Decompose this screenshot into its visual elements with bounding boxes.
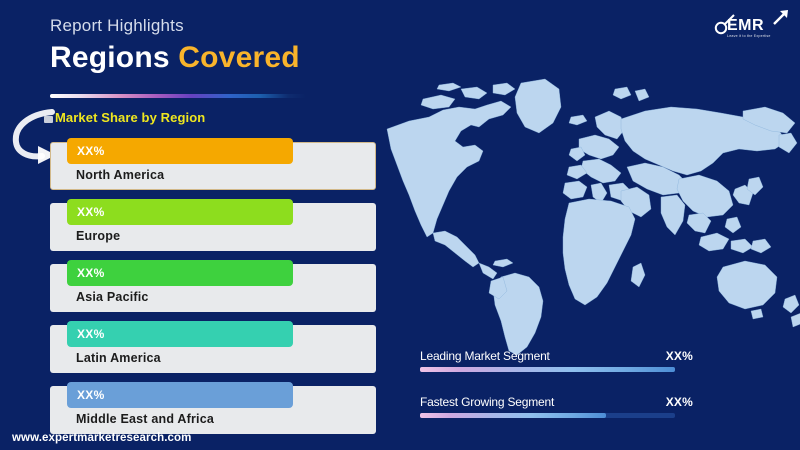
logo-tagline: Leave it to the Expertise	[727, 34, 771, 38]
segment-fill	[420, 367, 675, 372]
region-share-list: XX% North America XX% Europe XX% Asia Pa…	[50, 138, 380, 443]
emr-logo[interactable]: EMR Leave it to the Expertise	[714, 8, 792, 42]
region-name: Asia Pacific	[76, 290, 149, 304]
title-gradient-rule	[50, 94, 306, 98]
region-percent: XX%	[77, 205, 105, 219]
eyebrow-text: Report Highlights	[50, 16, 300, 36]
region-share-bar: XX%	[67, 321, 293, 347]
region-row[interactable]: XX% Europe	[50, 199, 380, 259]
page-title-primary: Regions	[50, 41, 170, 74]
region-share-bar: XX%	[67, 199, 293, 225]
segment-percent: XX%	[666, 395, 693, 409]
page-title: Regions Covered	[50, 41, 300, 76]
region-row[interactable]: XX% Latin America	[50, 321, 380, 381]
region-name: Middle East and Africa	[76, 412, 214, 426]
region-share-bar: XX%	[67, 260, 293, 286]
segment-track	[420, 367, 675, 372]
region-share-bar: XX%	[67, 138, 293, 164]
footer-url[interactable]: www.expertmarketresearch.com	[12, 432, 191, 444]
page-header: Report Highlights Regions Covered	[50, 16, 300, 76]
segment-label: Fastest Growing Segment	[420, 395, 554, 409]
region-share-bar: XX%	[67, 382, 293, 408]
section-label: Market Share by Region	[55, 110, 205, 125]
page-title-accent: Covered	[178, 41, 299, 74]
segment-label: Leading Market Segment	[420, 349, 550, 363]
segment-block[interactable]: Fastest Growing Segment XX%	[420, 395, 675, 441]
region-percent: XX%	[77, 327, 105, 341]
region-name: Latin America	[76, 351, 161, 365]
segment-track	[420, 413, 675, 418]
region-percent: XX%	[77, 388, 105, 402]
region-row[interactable]: XX% Asia Pacific	[50, 260, 380, 320]
region-percent: XX%	[77, 144, 105, 158]
segment-percent: XX%	[666, 349, 693, 363]
svg-text:EMR: EMR	[727, 17, 764, 34]
segment-fill	[420, 413, 606, 418]
region-percent: XX%	[77, 266, 105, 280]
segment-stats: Leading Market Segment XX% Fastest Growi…	[420, 349, 675, 441]
region-name: North America	[76, 168, 164, 182]
segment-block[interactable]: Leading Market Segment XX%	[420, 349, 675, 395]
region-row[interactable]: XX% North America	[50, 138, 380, 198]
region-name: Europe	[76, 229, 120, 243]
world-map	[383, 55, 800, 355]
